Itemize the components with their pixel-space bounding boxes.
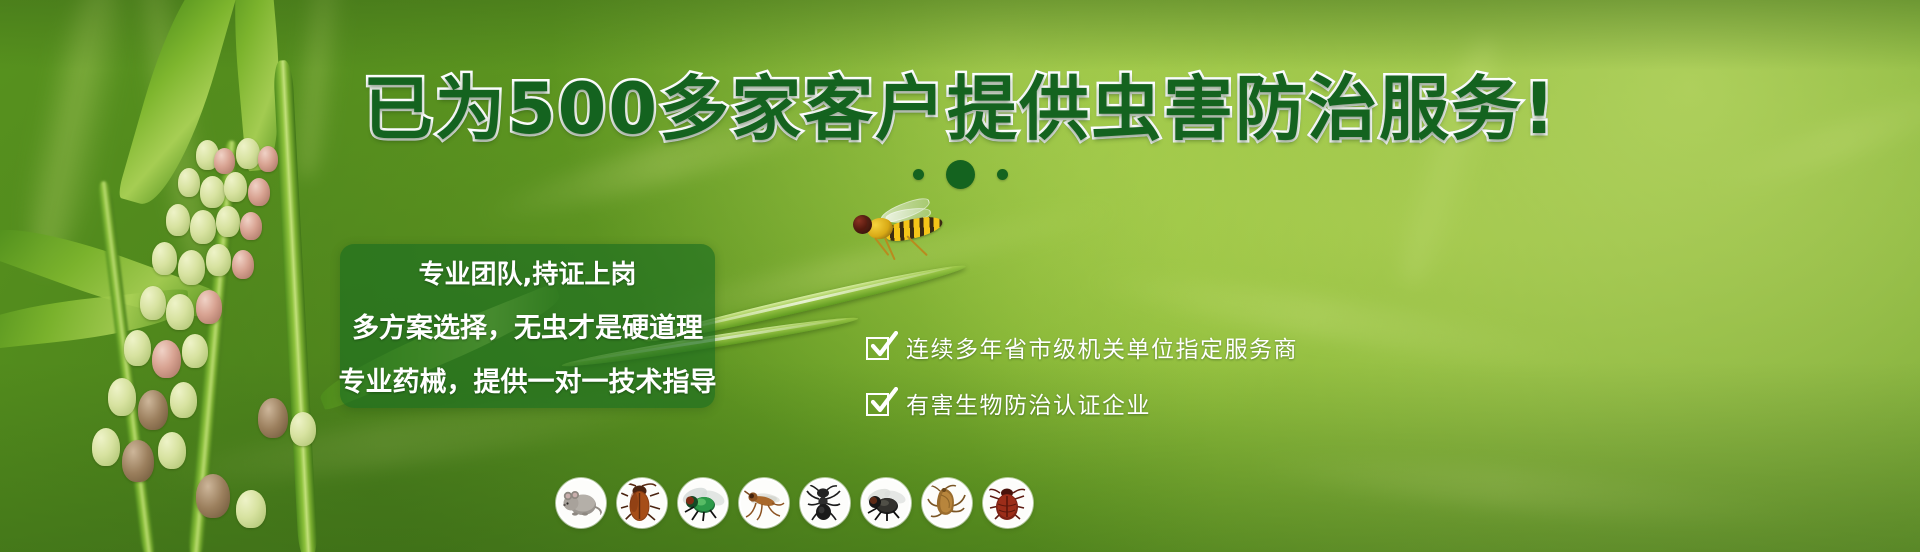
selling-points-text-group: 专业团队,持证上岗 多方案选择，无虫才是硬道理 专业药械，提供一对一技术指导 (340, 244, 715, 408)
hoverfly-leg (906, 235, 928, 256)
plant-bud (178, 250, 205, 285)
selling-point-line-3: 专业药械，提供一对一技术指导 (339, 360, 717, 399)
flea-icon[interactable] (922, 478, 972, 528)
divider-dot-small-right (997, 169, 1008, 180)
plant-bud (196, 290, 222, 324)
plant-bud (290, 412, 316, 446)
plant-bud (236, 490, 266, 528)
plant-bud (166, 294, 194, 330)
plant-bud (108, 378, 136, 416)
plant-bud (166, 204, 190, 236)
hoverfly-image (845, 197, 960, 259)
plant-bud (190, 210, 216, 244)
plant-bud (124, 330, 151, 366)
cockroach-icon[interactable] (617, 478, 667, 528)
plant-bud (258, 398, 288, 438)
checkbox-checked-icon (866, 334, 892, 360)
checkbox-checked-icon (866, 390, 892, 416)
credential-item: 连续多年省市级机关单位指定服务商 (866, 330, 1298, 364)
plant-stem (97, 181, 156, 552)
divider-dot-large-center (946, 160, 975, 189)
credential-label: 有害生物防治认证企业 (906, 386, 1151, 420)
plant-bud (140, 286, 166, 320)
plant-bud (122, 440, 154, 482)
mosquito-icon[interactable] (739, 478, 789, 528)
green-bottle-fly-icon[interactable] (678, 478, 728, 528)
mouse-icon[interactable] (556, 478, 606, 528)
credential-label: 连续多年省市级机关单位指定服务商 (906, 330, 1298, 364)
pest-type-icon-row (556, 478, 1033, 528)
plant-bud (158, 432, 186, 469)
plant-bud (206, 244, 231, 276)
ant-icon[interactable] (800, 478, 850, 528)
credentials-list: 连续多年省市级机关单位指定服务商 有害生物防治认证企业 (866, 330, 1298, 420)
plant-bud (152, 340, 181, 378)
plant-bud (182, 334, 208, 368)
plant-bud (240, 212, 262, 240)
bedbug-icon[interactable] (983, 478, 1033, 528)
plant-bud (216, 206, 240, 237)
plant-bud (92, 428, 120, 466)
banner-headline: 已为500多家客户提供虫害防治服务! (0, 74, 1920, 144)
plant-bud (170, 382, 197, 418)
credential-item: 有害生物防治认证企业 (866, 386, 1298, 420)
promo-banner: 已为500多家客户提供虫害防治服务! 专业团队,持证上岗 多方案选择，无虫才是硬… (0, 0, 1920, 552)
divider-dot-small-left (913, 169, 924, 180)
housefly-icon[interactable] (861, 478, 911, 528)
selling-point-line-2: 多方案选择，无虫才是硬道理 (352, 306, 703, 345)
hoverfly-eye (854, 216, 867, 231)
plant-bud (138, 390, 168, 430)
headline-divider-dots (0, 160, 1920, 189)
banner-headline-text: 已为500多家客户提供虫害防治服务! (363, 68, 1557, 150)
selling-point-line-1: 专业团队,持证上岗 (419, 254, 637, 291)
plant-bud (232, 250, 254, 279)
plant-bud (152, 242, 177, 275)
plant-bud (196, 474, 230, 518)
